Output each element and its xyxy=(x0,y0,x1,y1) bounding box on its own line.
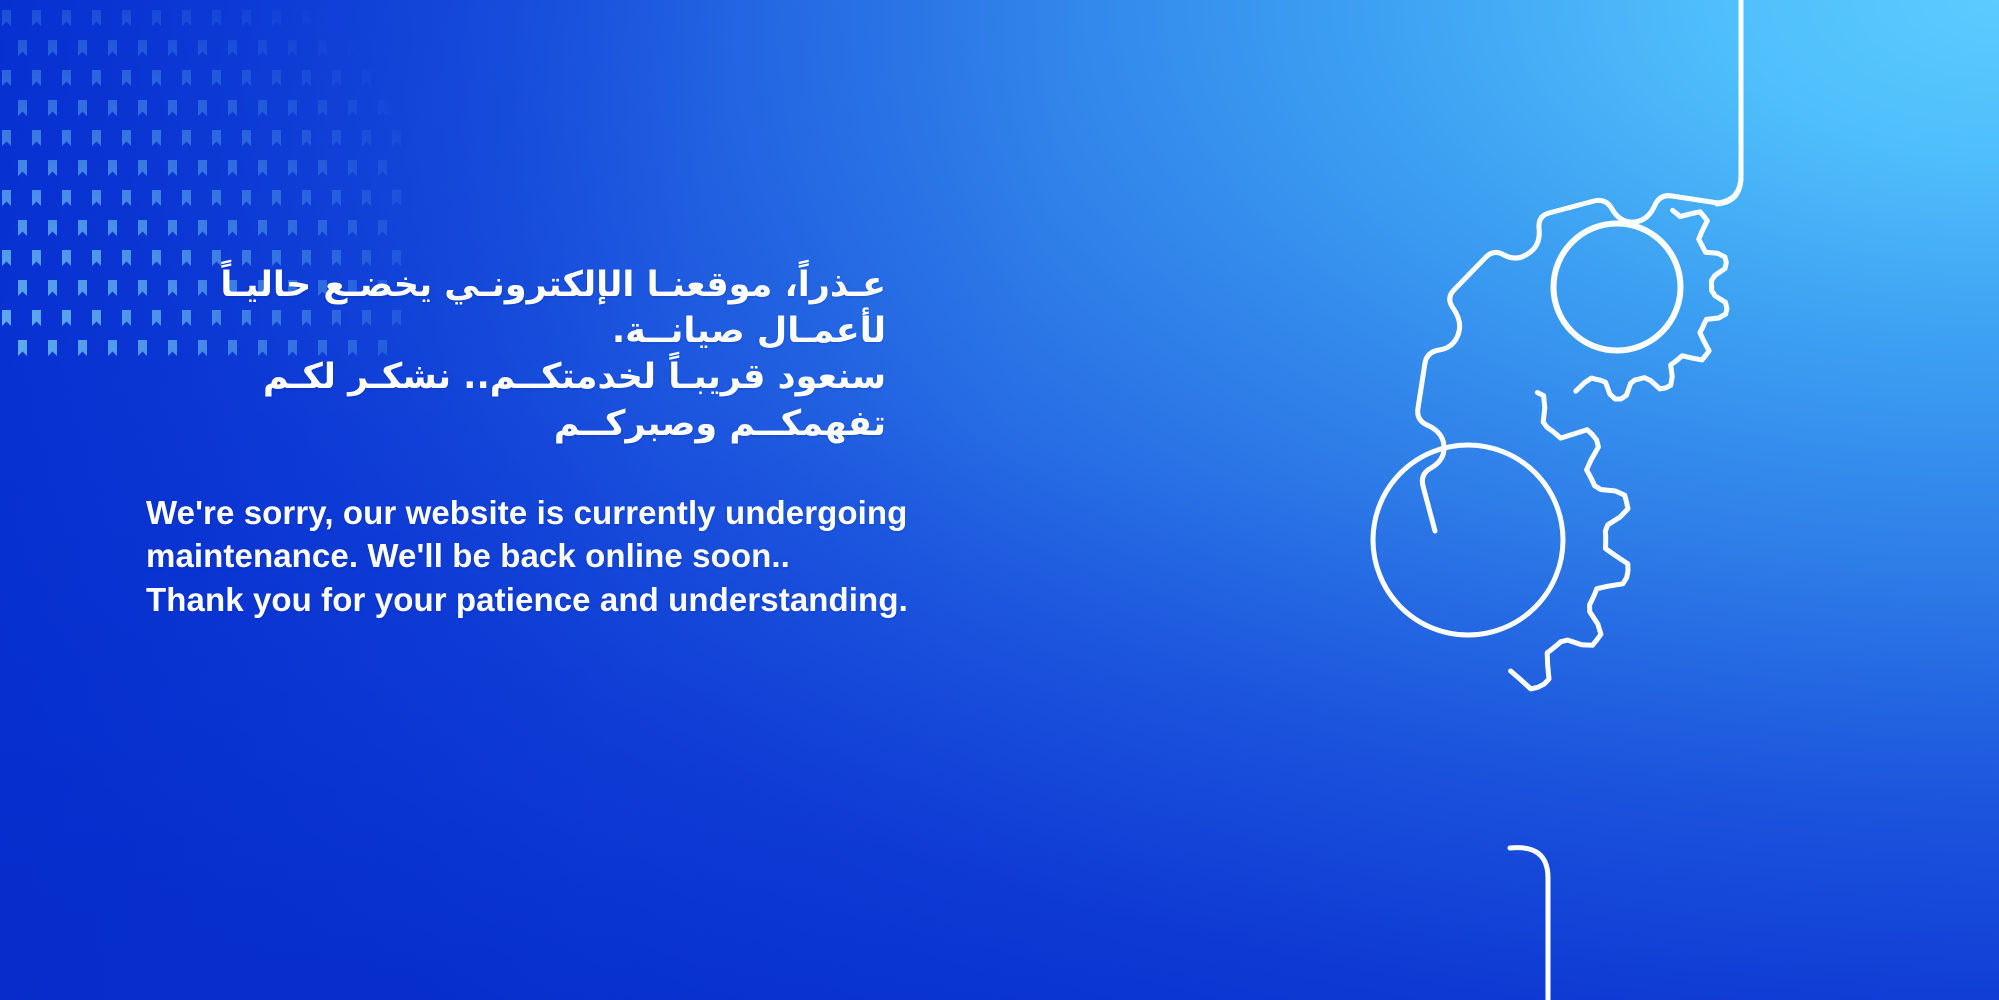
arabic-line-1: عـذراً، موقعنـا الإلكترونـي يخضـع حاليـا… xyxy=(146,262,886,354)
arabic-message: عـذراً، موقعنـا الإلكترونـي يخضـع حاليـا… xyxy=(146,262,886,447)
english-line-2: maintenance. We'll be back online soon.. xyxy=(146,534,1046,578)
english-message: We're sorry, our website is currently un… xyxy=(146,491,1046,622)
english-line-3: Thank you for your patience and understa… xyxy=(146,578,1046,622)
english-line-1: We're sorry, our website is currently un… xyxy=(146,491,1046,535)
arabic-line-2: سنعود قريبـاً لخدمتكــم.. نشكـر لكـم تفه… xyxy=(146,354,886,446)
maintenance-page: عـذراً، موقعنـا الإلكترونـي يخضـع حاليـا… xyxy=(0,0,1999,1000)
message-block: عـذراً، موقعنـا الإلكترونـي يخضـع حاليـا… xyxy=(146,262,1046,621)
